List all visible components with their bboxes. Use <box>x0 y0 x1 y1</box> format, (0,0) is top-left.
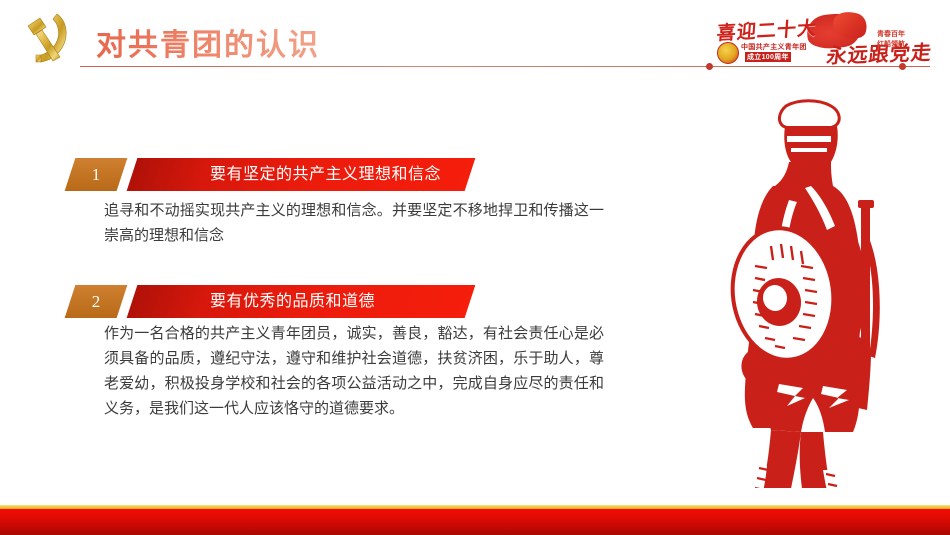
block-2-ribbon: 要有优秀的品质和道德 <box>127 285 476 318</box>
content-block-2: 2 要有优秀的品质和道德 作为一名合格的共产主义青年团员，诚实，善良，豁达，有社… <box>70 285 470 318</box>
block-1-heading: 要有坚定的共产主义理想和信念 <box>132 158 470 191</box>
block-1-number-badge: 1 <box>65 158 128 191</box>
block-1-ribbon: 要有坚定的共产主义理想和信念 <box>127 158 476 191</box>
block-1-banner: 1 要有坚定的共产主义理想和信念 <box>70 158 470 191</box>
block-2-number-label: 2 <box>70 285 122 318</box>
youth-league-seal-icon <box>717 42 739 64</box>
slide-canvas: 对共青团的认识 喜迎二十大 永远跟党走 中国共产主义青年团 成立100周年 青春… <box>0 0 950 535</box>
block-2-heading: 要有优秀的品质和道德 <box>132 285 470 318</box>
footer-red-stripe <box>0 509 950 535</box>
badge-subtext-slogan-1: 青春百年 <box>877 30 905 39</box>
block-1-number-label: 1 <box>70 158 122 191</box>
footer-bar <box>0 505 950 535</box>
badge-subtext-anniversary: 成立100周年 <box>745 52 791 62</box>
block-2-number-badge: 2 <box>65 285 128 318</box>
slide-header: 对共青团的认识 喜迎二十大 永远跟党走 中国共产主义青年团 成立100周年 青春… <box>0 0 950 80</box>
content-block-1: 1 要有坚定的共产主义理想和信念 追寻和不动摇实现共产主义的理想和信念。并要坚定… <box>70 158 470 191</box>
header-dot-left-icon <box>706 63 713 70</box>
block-2-banner: 2 要有优秀的品质和道德 <box>70 285 470 318</box>
block-1-body-text: 追寻和不动摇实现共产主义的理想和信念。并要坚定不移地捍卫和传播这一崇高的理想和信… <box>104 198 604 248</box>
party-hammer-sickle-emblem-icon <box>16 10 78 66</box>
page-title: 对共青团的认识 <box>96 20 320 64</box>
badge-subtext-slogan-2: 红船领航 <box>877 40 905 49</box>
block-2-body-text: 作为一名合格的共产主义青年团员，诚实，善良，豁达，有社会责任心是必须具备的品质，… <box>104 321 604 421</box>
red-army-soldier-illustration <box>655 88 950 488</box>
badge-headline-primary: 喜迎二十大 <box>716 13 818 45</box>
anniversary-badge: 喜迎二十大 永远跟党走 中国共产主义青年团 成立100周年 青春百年 红船领航 <box>715 12 920 72</box>
badge-subtext-org: 中国共产主义青年团 <box>740 42 808 52</box>
